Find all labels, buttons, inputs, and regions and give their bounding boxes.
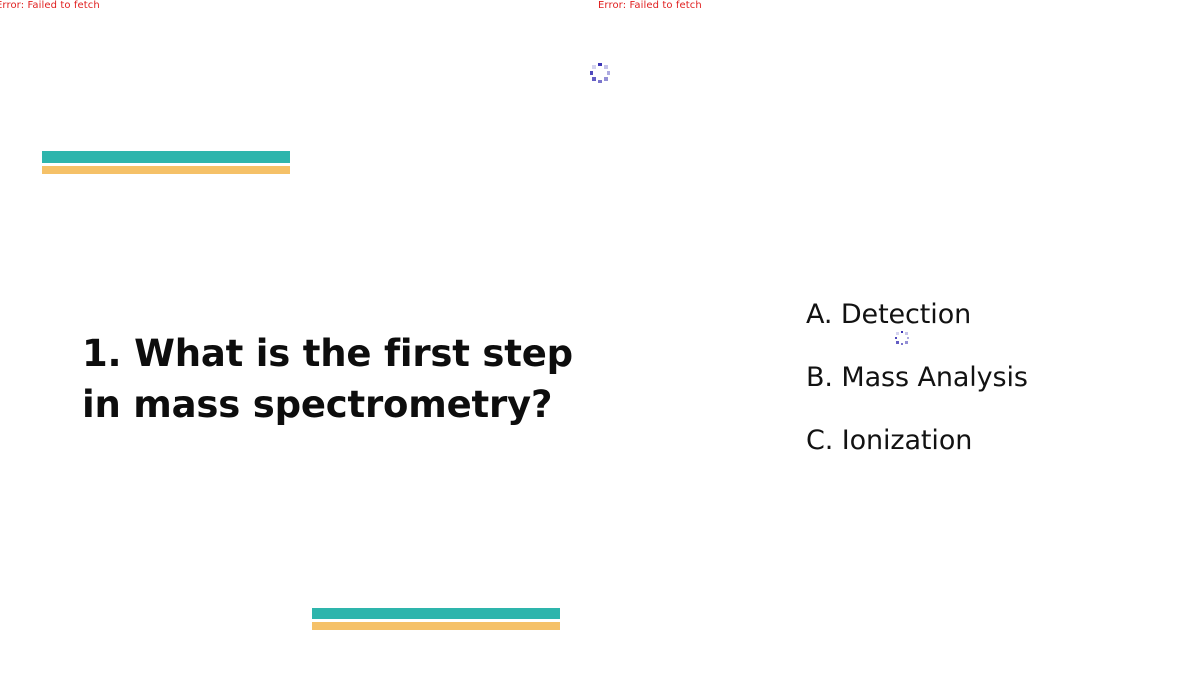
error-message-right: Error: Failed to fetch [598,0,702,12]
answer-option-b[interactable]: B. Mass Analysis [806,363,1166,393]
spinner-dot [895,337,897,339]
error-message-left: Error: Failed to fetch [0,0,100,12]
decorative-bars-top [42,151,290,174]
spinner-dot [598,80,601,83]
spinner-dot [592,65,595,68]
loading-spinner-icon [589,62,611,84]
spinner-dot [604,77,607,80]
decorative-bar-teal [42,151,290,163]
answer-option-a[interactable]: A. Detection [806,300,1166,330]
loading-spinner-icon-secondary [894,330,910,346]
decorative-bars-bottom [312,608,560,630]
spinner-dot [907,337,909,339]
answer-option-c[interactable]: C. Ionization [806,426,1166,456]
spinner-dot [896,341,898,343]
decorative-bar-yellow [42,166,290,174]
answer-options-list: A. Detection B. Mass Analysis C. Ionizat… [806,300,1166,456]
spinner-dot [901,331,903,333]
spinner-dot [604,65,607,68]
spinner-dot [905,341,907,343]
spinner-dot [901,343,903,345]
spinner-dot [905,332,907,334]
spinner-dot [592,77,595,80]
spinner-dot [590,71,593,74]
quiz-slide: Error: Failed to fetch Error: Failed to … [0,0,1200,675]
decorative-bar-teal [312,608,560,619]
spinner-dot [896,332,898,334]
question-text: 1. What is the first step in mass spectr… [82,328,602,430]
spinner-dot [607,71,610,74]
decorative-bar-yellow [312,622,560,630]
spinner-dot [598,63,601,66]
